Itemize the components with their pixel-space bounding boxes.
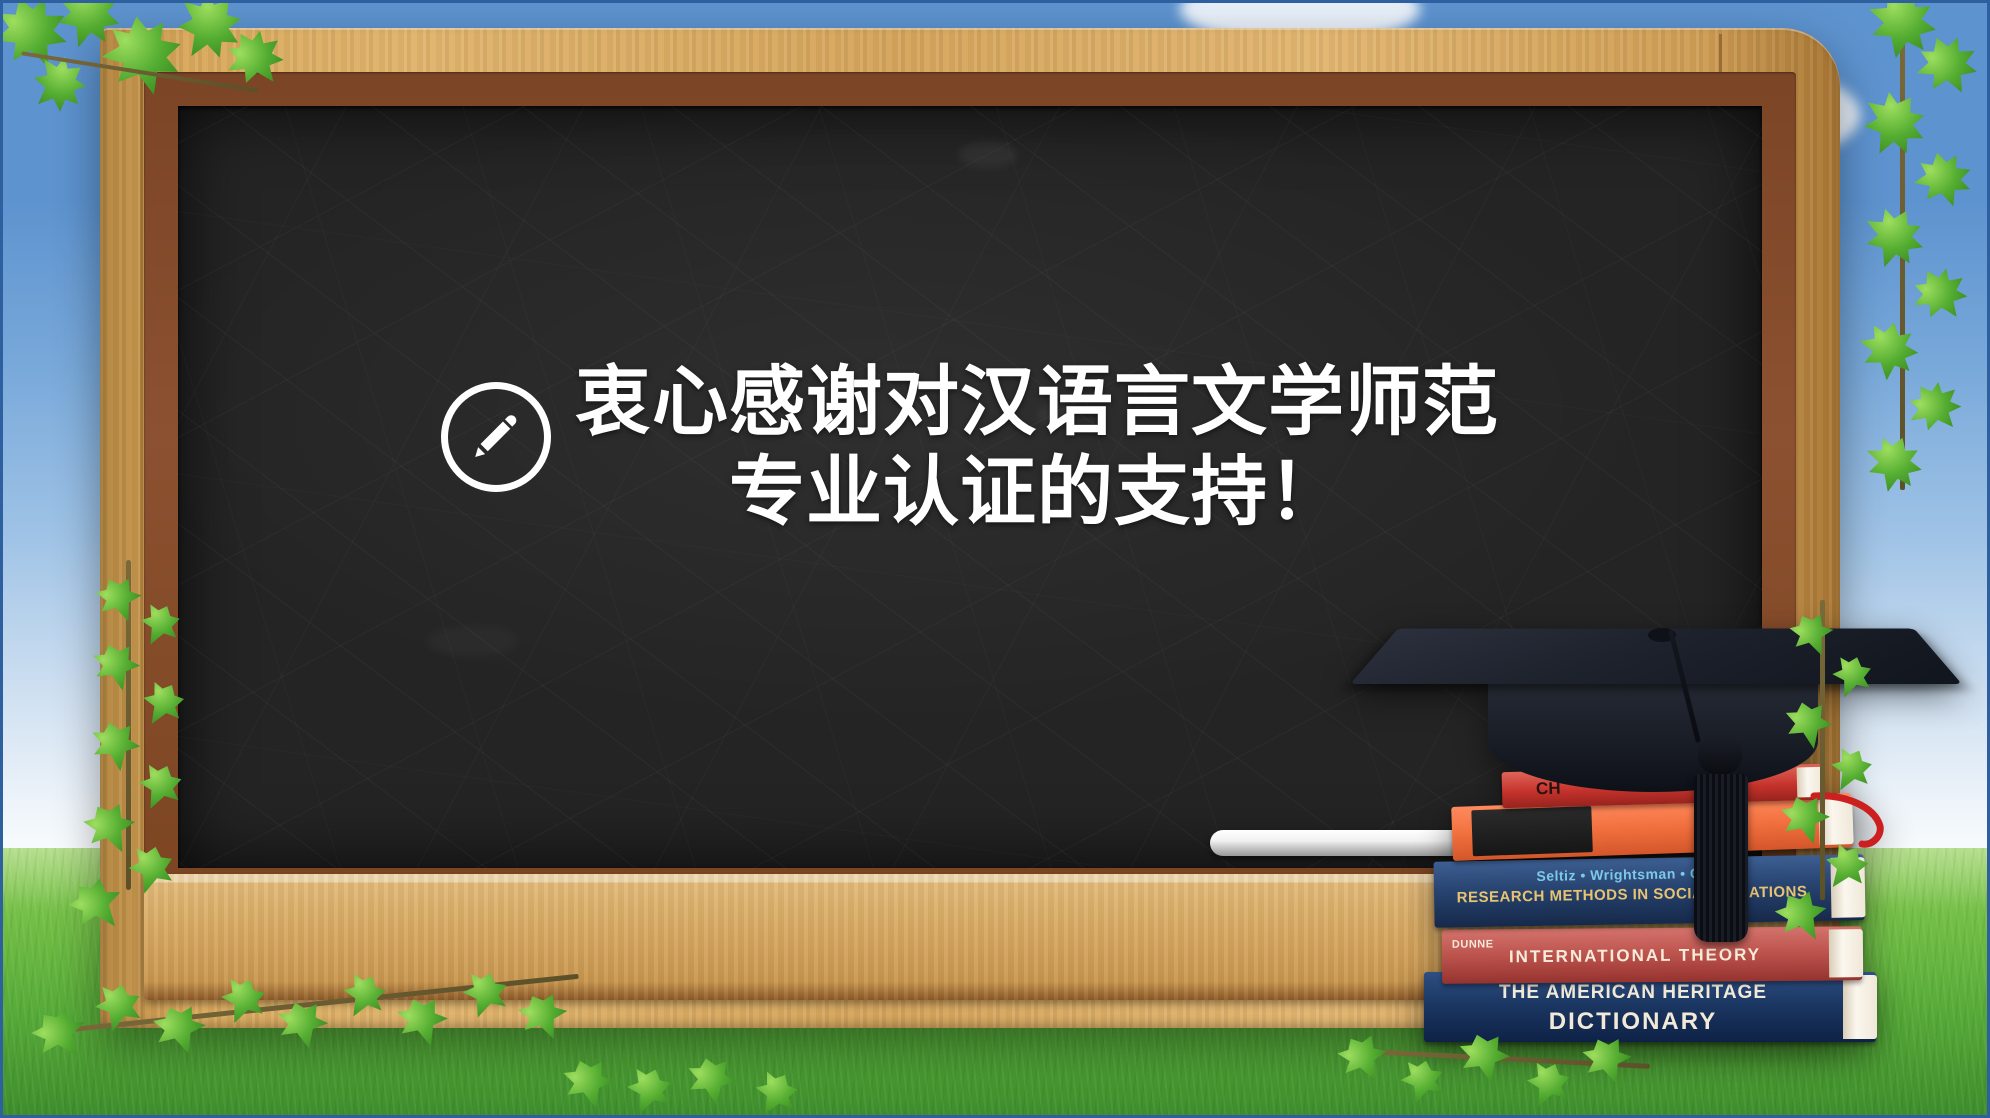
leaf xyxy=(554,1054,620,1117)
leaf xyxy=(87,571,149,632)
ivy-vine-decoration xyxy=(84,560,224,980)
ivy-vine-decoration xyxy=(1842,0,1990,560)
leaf xyxy=(742,1063,806,1118)
ivy-vine-decoration xyxy=(560,1052,900,1118)
leaf xyxy=(1781,607,1841,666)
pencil-in-circle-icon xyxy=(441,382,551,492)
headline-block: 衷心感谢对汉语言文学师范 专业认证的支持！ xyxy=(178,358,1762,537)
ivy-vine-decoration xyxy=(1330,1010,1690,1118)
book-dark-spine xyxy=(1471,806,1593,856)
book-title: THE AMERICAN HERITAGE xyxy=(1424,982,1876,1004)
headline-line-2: 专业认证的支持！ xyxy=(575,448,1499,538)
leaf xyxy=(20,998,97,1074)
leaf xyxy=(508,985,575,1050)
leaf xyxy=(143,998,213,1064)
page-title: 衷心感谢对汉语言文学师范 专业认证的支持！ xyxy=(575,358,1499,537)
leaf xyxy=(680,1054,740,1110)
leaf xyxy=(615,1060,679,1118)
leaf xyxy=(84,718,144,776)
leaf xyxy=(1903,258,1978,332)
leaf xyxy=(452,965,514,1024)
leaf xyxy=(209,970,273,1031)
maple-leaf-decoration xyxy=(0,0,320,196)
tassel-knot xyxy=(1698,734,1742,774)
leaf xyxy=(1909,147,1977,214)
leaf xyxy=(1328,1027,1396,1094)
chalk-smudge xyxy=(958,142,1018,168)
leaf xyxy=(1853,316,1924,385)
leaf xyxy=(1818,740,1879,800)
leaf xyxy=(1822,650,1878,705)
leaf xyxy=(1765,882,1838,954)
leaf xyxy=(1391,1054,1449,1110)
tassel-fringe xyxy=(1694,774,1748,942)
ivy-vine-decoration xyxy=(30,940,650,1110)
leaf xyxy=(130,673,192,734)
leaf xyxy=(1898,371,1972,444)
leaf xyxy=(388,991,455,1055)
headline-line-1: 衷心感谢对汉语言文学师范 xyxy=(575,358,1499,448)
ivy-vine-decoration xyxy=(1772,600,1912,980)
leaf xyxy=(129,596,187,653)
cap-crown xyxy=(1488,672,1818,792)
chalk-smudge xyxy=(428,626,518,656)
leaf xyxy=(127,756,190,818)
leaf xyxy=(1772,789,1837,853)
leaf xyxy=(1778,697,1837,754)
leaf xyxy=(73,795,144,865)
leaf xyxy=(1856,428,1930,500)
leaf xyxy=(1852,197,1934,278)
slide-stage: 衷心感谢对汉语言文学师范 专业认证的支持！ THE AMERICAN HERIT… xyxy=(0,0,1990,1118)
leaf xyxy=(1848,79,1939,169)
leaf xyxy=(85,639,145,698)
